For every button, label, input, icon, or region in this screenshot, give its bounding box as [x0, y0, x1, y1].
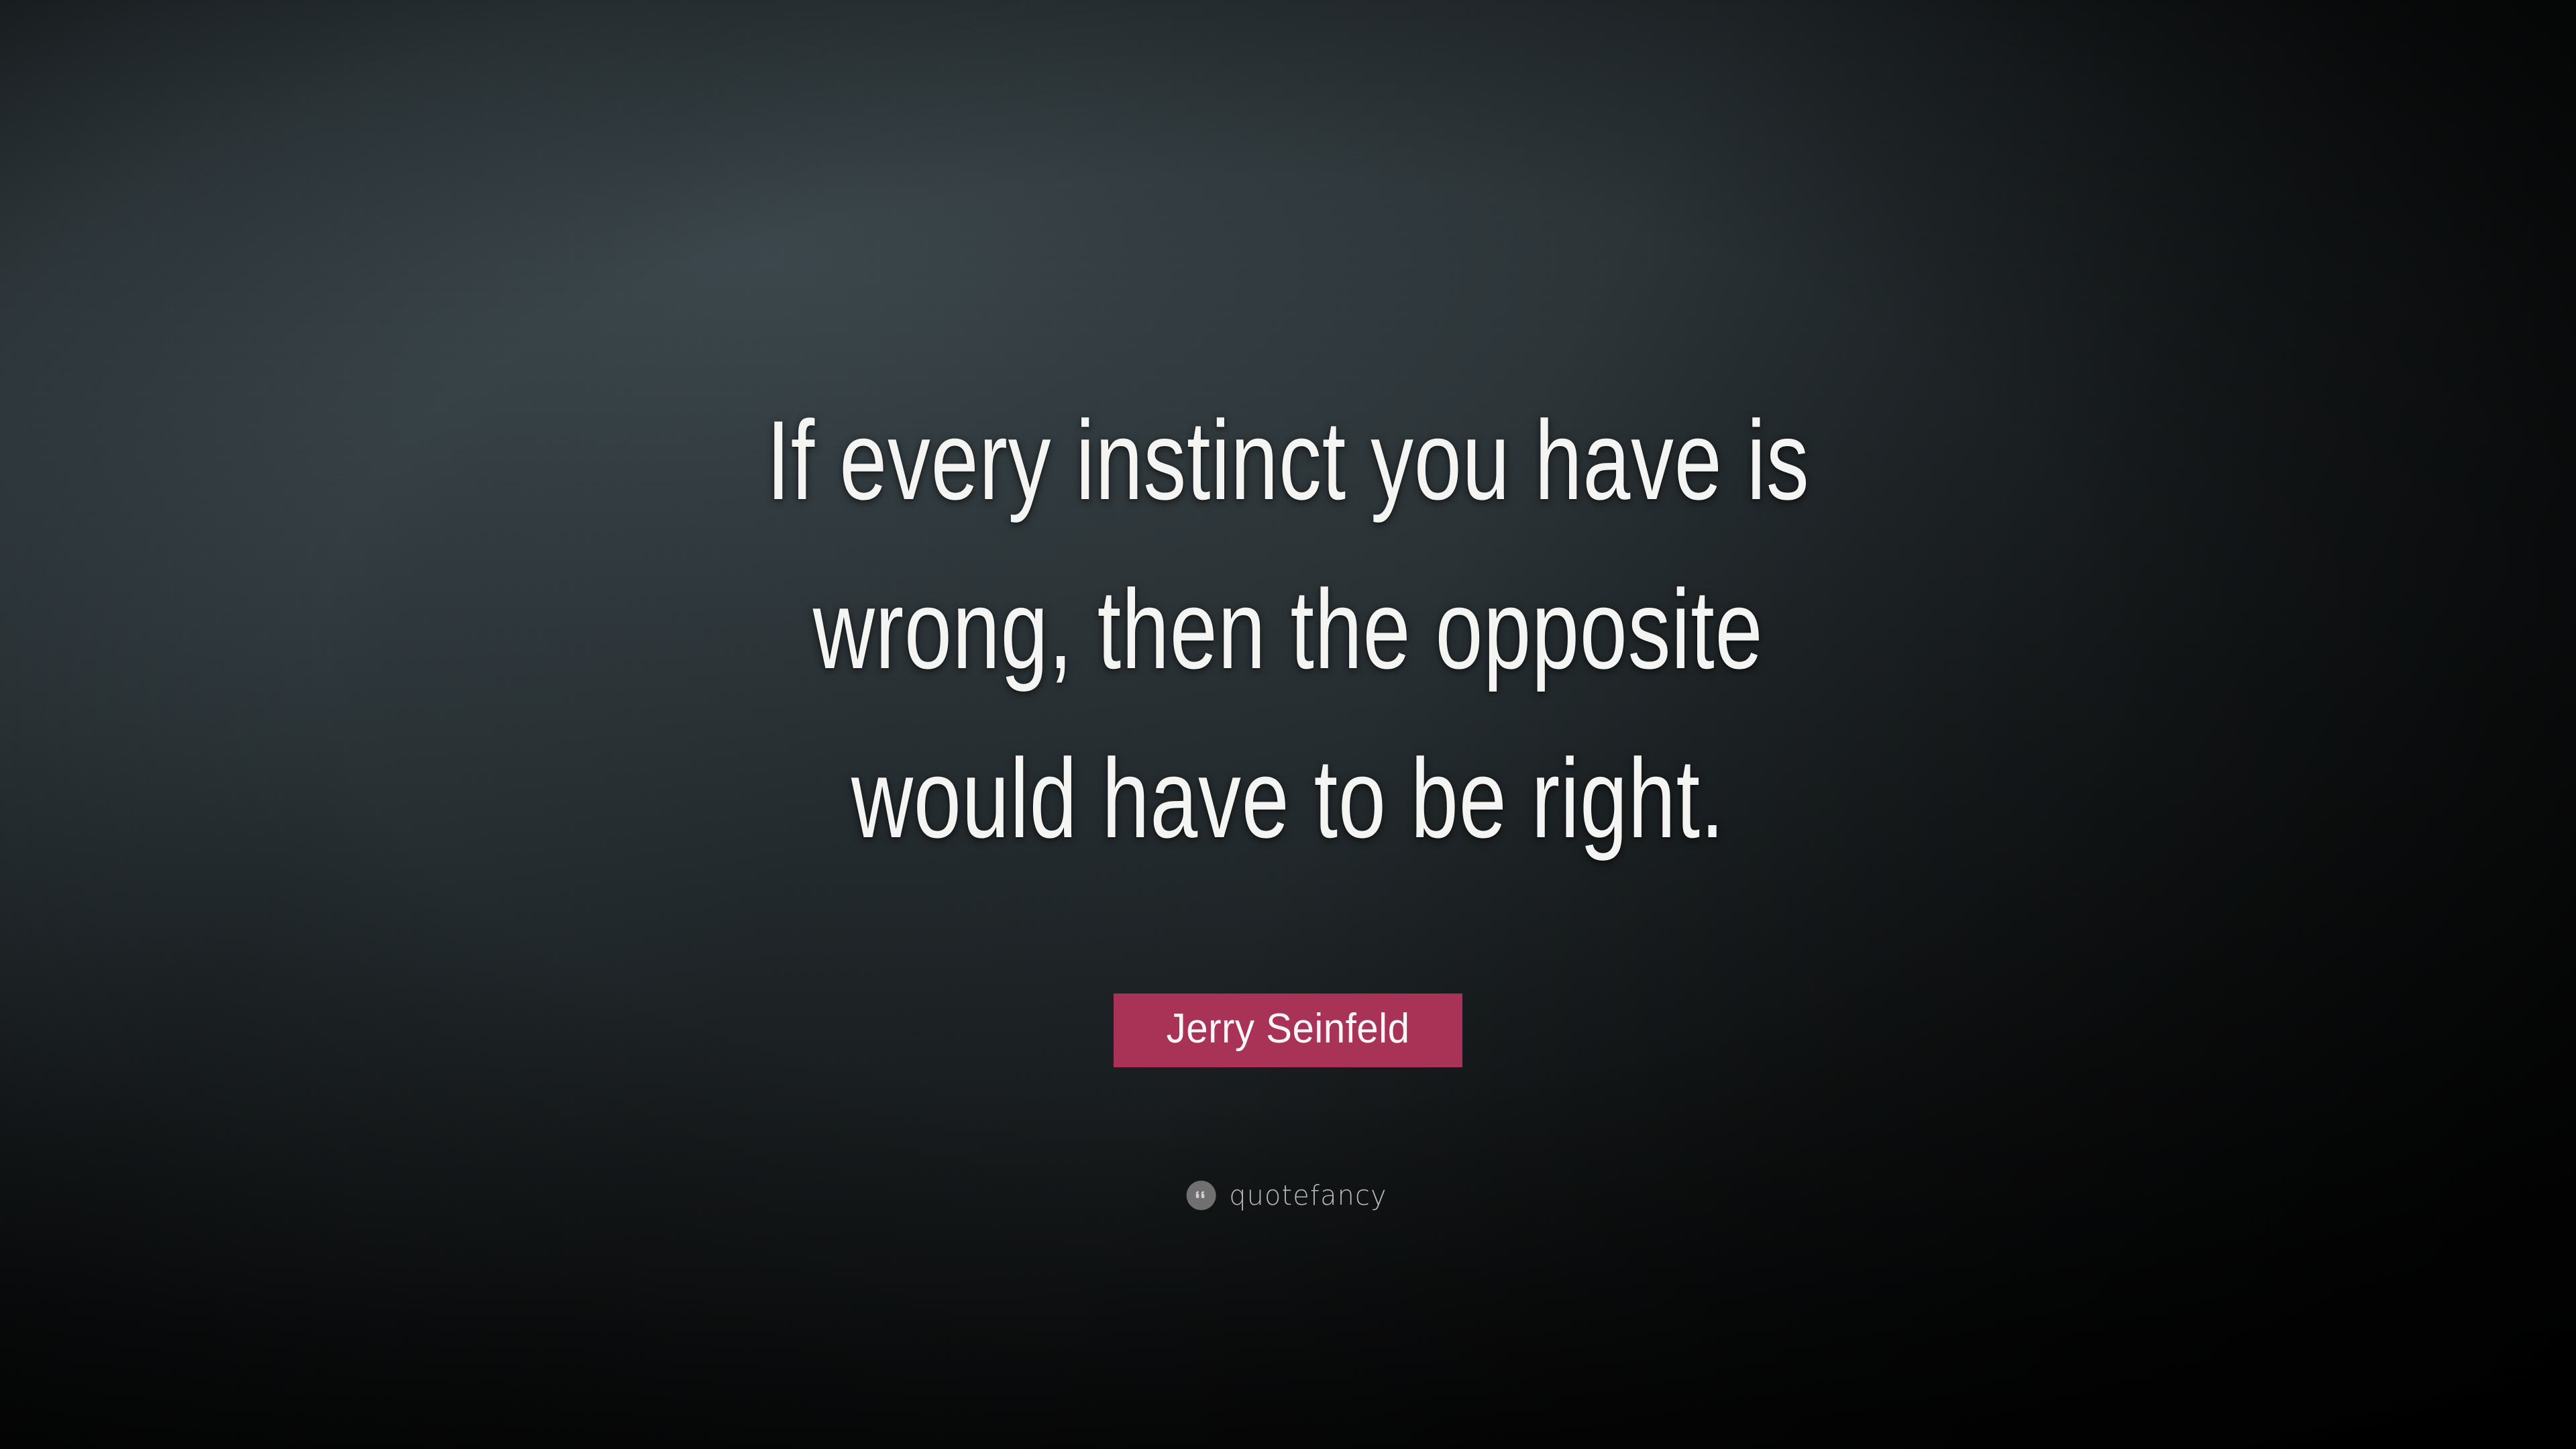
quote-line-1: If every instinct you have is: [651, 376, 1925, 545]
author-badge[interactable]: Jerry Seinfeld: [1114, 994, 1462, 1067]
quote-line-2: wrong, then the opposite: [651, 545, 1925, 714]
quote-text: If every instinct you have is wrong, the…: [449, 376, 2127, 883]
quotefancy-wordmark: quotefancy: [1229, 1181, 1387, 1210]
wallpaper-canvas: If every instinct you have is wrong, the…: [0, 0, 2576, 1449]
quote-line-3: would have to be right.: [651, 714, 1925, 883]
quotefancy-watermark[interactable]: quotefancy: [1187, 1181, 1390, 1210]
quotation-mark-icon: [1187, 1181, 1216, 1210]
wallpaper-content: If every instinct you have is wrong, the…: [0, 0, 2576, 1449]
author-name: Jerry Seinfeld: [1167, 1005, 1410, 1053]
